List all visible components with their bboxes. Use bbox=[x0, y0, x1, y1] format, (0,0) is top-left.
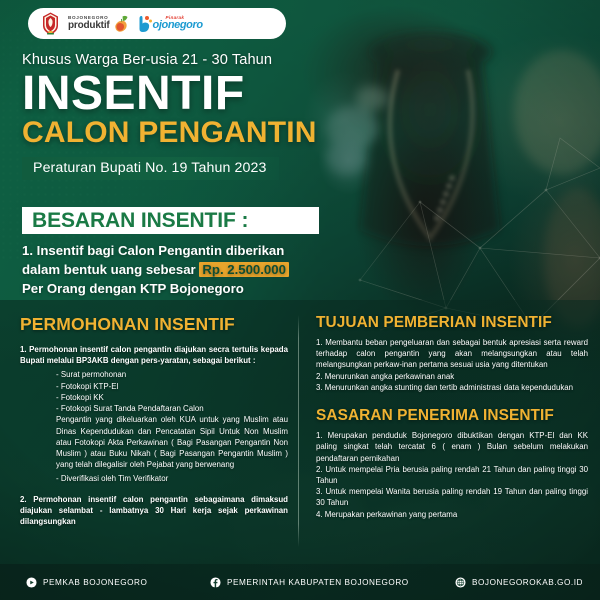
sasaran-item-1: 1. Merupakan penduduk Bojonegoro dibukti… bbox=[316, 430, 588, 464]
list-item: - Fotokopi KTP-El bbox=[56, 381, 288, 392]
permohonan-bullet-list: - Surat permohonan - Fotokopi KTP-El - F… bbox=[20, 369, 288, 414]
permohonan-column: PERMOHONAN INSENTIF 1. Permohonan insent… bbox=[20, 314, 288, 527]
footer-youtube-label: PEMKAB BOJONEGORO bbox=[43, 578, 147, 587]
besaran-line-1: 1. Insentif bagi Calon Pengantin diberik… bbox=[22, 241, 342, 260]
pinarak-main-label: ojonegoro bbox=[153, 20, 203, 31]
besaran-heading: BESARAN INSENTIF : bbox=[32, 209, 248, 233]
tujuan-item-1: 1. Membantu beban pengeluaran dan sebaga… bbox=[316, 337, 588, 371]
footer-website-label: BOJONEGOROKAB.GO.ID bbox=[472, 578, 583, 587]
sasaran-item-4: 4. Merupakan perkawinan yang pertama bbox=[316, 509, 588, 520]
tujuan-heading: TUJUAN PEMBERIAN INSENTIF bbox=[316, 314, 588, 332]
list-item: - Surat permohonan bbox=[56, 369, 288, 380]
incentive-amount: Rp. 2.500.000 bbox=[199, 262, 289, 277]
tujuan-item-2: 2. Menurunkan angka perkawinan anak bbox=[316, 371, 588, 382]
globe-icon bbox=[455, 577, 466, 588]
pinarak-bojonegoro-logo: Pinarak ojonegoro bbox=[138, 15, 203, 33]
footer-bar: PEMKAB BOJONEGORO PEMERINTAH KABUPATEN B… bbox=[0, 564, 600, 600]
produktif-main-label: produktif bbox=[68, 21, 110, 31]
list-item: - Diverifikasi oleh Tim Verifikator bbox=[56, 473, 288, 484]
permohonan-bullet-5-wrap: - Diverifikasi oleh Tim Verifikator bbox=[20, 473, 288, 484]
permohonan-item-1: 1. Permohonan insentif calon pengantin d… bbox=[20, 344, 288, 366]
footer-youtube[interactable]: PEMKAB BOJONEGORO bbox=[26, 577, 147, 588]
bojonegoro-coat-of-arms-icon bbox=[42, 12, 59, 35]
list-item: - Fotokopi KK bbox=[56, 392, 288, 403]
besaran-line-2-text: dalam bentuk uang sebesar bbox=[22, 262, 199, 277]
list-item: - Fotokopi Surat Tanda Pendaftaran Calon bbox=[56, 403, 288, 414]
hero-block: Khusus Warga Ber-usia 21 - 30 Tahun INSE… bbox=[22, 52, 352, 180]
regulation-badge: Peraturan Bupati No. 19 Tahun 2023 bbox=[22, 157, 279, 180]
pinarak-b-icon bbox=[138, 15, 152, 33]
youtube-icon bbox=[26, 577, 37, 588]
footer-website[interactable]: BOJONEGOROKAB.GO.ID bbox=[455, 577, 583, 588]
besaran-line-2: dalam bentuk uang sebesar Rp. 2.500.000 bbox=[22, 260, 342, 279]
sasaran-item-2: 2. Untuk mempelai Pria berusia paling re… bbox=[316, 464, 588, 486]
footer-facebook-label: PEMERINTAH KABUPATEN BOJONEGORO bbox=[227, 578, 409, 587]
produktif-leaf-icon bbox=[113, 15, 129, 33]
hero-title: INSENTIF bbox=[22, 70, 352, 117]
hero-kicker: Khusus Warga Ber-usia 21 - 30 Tahun bbox=[22, 52, 352, 68]
facebook-icon bbox=[210, 577, 221, 588]
sasaran-item-3: 3. Untuk mempelai Wanita berusia paling … bbox=[316, 486, 588, 508]
sasaran-heading: SASARAN PENERIMA INSENTIF bbox=[316, 407, 588, 425]
tujuan-item-3: 3. Menurunkan angka stunting dan tertib … bbox=[316, 382, 588, 393]
poster-root: BOJONEGORO produktif Pinarak ojonegoro bbox=[0, 0, 600, 600]
permohonan-heading: PERMOHONAN INSENTIF bbox=[20, 314, 288, 335]
permohonan-item-2: 2. Permohonan insentif calon pengantin s… bbox=[20, 494, 288, 528]
bojonegoro-produktif-logo: BOJONEGORO produktif bbox=[68, 15, 129, 33]
tujuan-sasaran-column: TUJUAN PEMBERIAN INSENTIF 1. Membantu be… bbox=[316, 314, 588, 520]
footer-facebook[interactable]: PEMERINTAH KABUPATEN BOJONEGORO bbox=[210, 577, 409, 588]
besaran-line-3: Per Orang dengan KTP Bojonegoro bbox=[22, 279, 342, 298]
besaran-body: 1. Insentif bagi Calon Pengantin diberik… bbox=[22, 241, 342, 298]
logo-bar: BOJONEGORO produktif Pinarak ojonegoro bbox=[28, 8, 286, 39]
permohonan-bullet-4-continuation: Pengantin yang dikeluarkan oleh KUA untu… bbox=[20, 414, 288, 470]
hero-subtitle: CALON PENGANTIN bbox=[22, 118, 352, 148]
column-divider bbox=[298, 315, 299, 547]
besaran-heading-band: BESARAN INSENTIF : bbox=[22, 207, 319, 234]
